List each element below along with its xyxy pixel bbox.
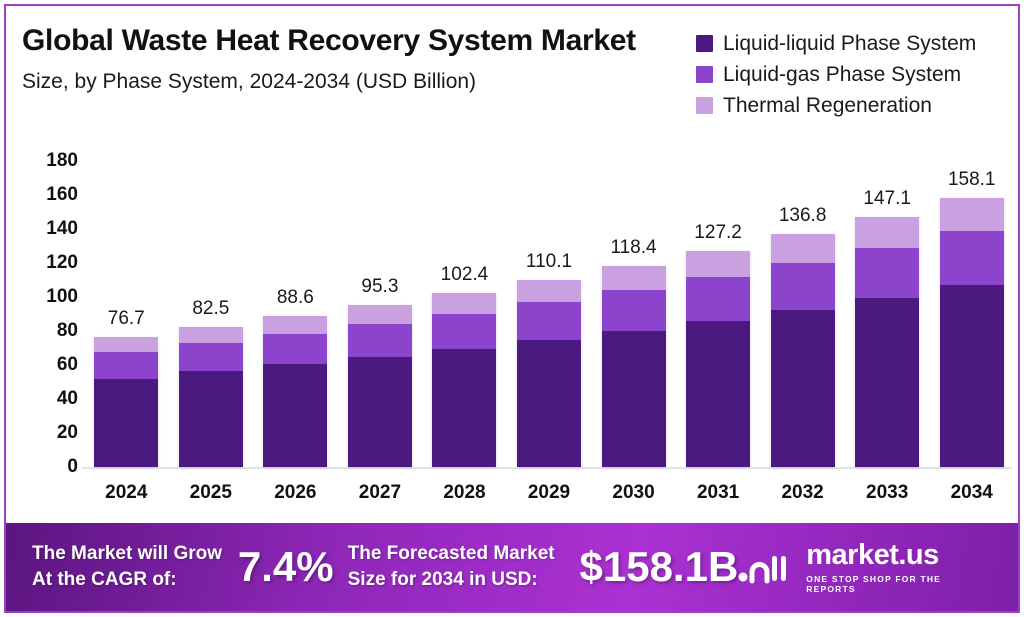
legend-item[interactable]: Thermal Regeneration	[696, 90, 976, 121]
y-axis: 020406080100120140160180	[6, 126, 78, 466]
x-axis-tick-label: 2024	[94, 482, 158, 504]
x-axis-tick-label: 2033	[855, 482, 919, 504]
y-axis-tick-label: 60	[6, 354, 78, 376]
x-axis-tick-label: 2030	[602, 482, 666, 504]
bar-group[interactable]: 158.1	[940, 198, 1004, 467]
bar-group[interactable]: 136.8	[771, 234, 835, 467]
bar-value-label: 82.5	[192, 298, 229, 320]
y-axis-tick-label: 100	[6, 286, 78, 308]
bar-segment[interactable]	[94, 379, 158, 467]
bar-segment[interactable]	[517, 340, 581, 467]
bar-segment[interactable]	[94, 352, 158, 378]
bar-segment[interactable]	[940, 198, 1004, 231]
bar-segment[interactable]	[348, 324, 412, 356]
chart-subtitle: Size, by Phase System, 2024-2034 (USD Bi…	[22, 70, 476, 94]
bar-segment[interactable]	[771, 234, 835, 263]
bar-value-label: 95.3	[361, 276, 398, 298]
x-axis-tick-label: 2025	[179, 482, 243, 504]
bar-segment[interactable]	[686, 277, 750, 320]
bar-group[interactable]: 147.1	[855, 217, 919, 467]
forecast-label: The Forecasted Market Size for 2034 in U…	[348, 541, 574, 592]
x-axis-tick-label: 2029	[517, 482, 581, 504]
bar-segment[interactable]	[940, 231, 1004, 285]
bar-group[interactable]: 127.2	[686, 251, 750, 467]
y-axis-tick-label: 0	[6, 456, 78, 478]
stacked-bar[interactable]: 88.6	[263, 316, 327, 467]
stacked-bar[interactable]: 102.4	[432, 293, 496, 467]
bar-series-container: 76.782.588.695.3102.4110.1118.4127.2136.…	[84, 126, 1014, 467]
bar-segment[interactable]	[686, 251, 750, 278]
bar-group[interactable]: 88.6	[263, 316, 327, 467]
y-axis-tick-label: 80	[6, 320, 78, 342]
stacked-bar[interactable]: 76.7	[94, 337, 158, 467]
page-title: Global Waste Heat Recovery System Market	[22, 24, 636, 58]
bar-group[interactable]: 95.3	[348, 305, 412, 467]
bar-segment[interactable]	[940, 285, 1004, 467]
bar-value-label: 118.4	[610, 237, 656, 259]
bar-value-label: 88.6	[277, 287, 314, 309]
stacked-bar[interactable]: 127.2	[686, 251, 750, 467]
x-axis-tick-label: 2034	[940, 482, 1004, 504]
bar-segment[interactable]	[855, 217, 919, 248]
bar-value-label: 136.8	[779, 205, 827, 227]
bar-segment[interactable]	[263, 316, 327, 334]
bar-group[interactable]: 118.4	[602, 266, 666, 467]
legend-item[interactable]: Liquid-liquid Phase System	[696, 28, 976, 59]
bar-segment[interactable]	[855, 248, 919, 298]
y-axis-tick-label: 180	[6, 150, 78, 172]
bar-segment[interactable]	[686, 321, 750, 467]
bar-segment[interactable]	[179, 371, 243, 467]
bar-segment[interactable]	[517, 280, 581, 302]
legend-swatch-icon	[696, 35, 713, 52]
bar-segment[interactable]	[94, 337, 158, 353]
chart-legend: Liquid-liquid Phase SystemLiquid-gas Pha…	[696, 28, 976, 121]
y-axis-tick-label: 120	[6, 252, 78, 274]
legend-item-label: Liquid-gas Phase System	[723, 63, 961, 87]
stacked-bar[interactable]: 158.1	[940, 198, 1004, 467]
stacked-bar[interactable]: 95.3	[348, 305, 412, 467]
bar-segment[interactable]	[263, 364, 327, 467]
bar-segment[interactable]	[263, 334, 327, 364]
summary-banner: The Market will Grow At the CAGR of: 7.4…	[6, 523, 1018, 611]
chart-card: Global Waste Heat Recovery System Market…	[4, 4, 1020, 613]
signal-wave-icon	[738, 550, 796, 584]
bar-segment[interactable]	[771, 263, 835, 310]
x-axis-tick-label: 2026	[263, 482, 327, 504]
legend-swatch-icon	[696, 97, 713, 114]
bar-segment[interactable]	[348, 357, 412, 467]
y-axis-tick-label: 40	[6, 388, 78, 410]
y-axis-tick-label: 160	[6, 184, 78, 206]
legend-item[interactable]: Liquid-gas Phase System	[696, 59, 976, 90]
bar-segment[interactable]	[179, 327, 243, 343]
bar-segment[interactable]	[602, 290, 666, 330]
bar-group[interactable]: 76.7	[94, 337, 158, 467]
legend-item-label: Thermal Regeneration	[723, 94, 932, 118]
x-axis-tick-label: 2031	[686, 482, 750, 504]
bar-value-label: 127.2	[694, 222, 742, 244]
cagr-label: The Market will Grow At the CAGR of:	[32, 541, 232, 592]
stacked-bar[interactable]: 118.4	[602, 266, 666, 467]
bar-segment[interactable]	[517, 302, 581, 340]
bar-value-label: 76.7	[108, 308, 145, 330]
bar-segment[interactable]	[602, 266, 666, 290]
bar-segment[interactable]	[432, 314, 496, 349]
bar-group[interactable]: 82.5	[179, 327, 243, 467]
bar-segment[interactable]	[179, 343, 243, 371]
chart-header: Global Waste Heat Recovery System Market…	[6, 6, 1018, 126]
bar-segment[interactable]	[771, 310, 835, 467]
bar-segment[interactable]	[348, 305, 412, 324]
x-axis: 2024202520262027202820292030203120322033…	[84, 474, 1014, 514]
x-axis-tick-label: 2028	[432, 482, 496, 504]
x-axis-tick-label: 2027	[348, 482, 412, 504]
stacked-bar[interactable]: 82.5	[179, 327, 243, 467]
x-axis-line	[82, 467, 1012, 469]
chart-plot-area: 020406080100120140160180 76.782.588.695.…	[6, 126, 1018, 516]
x-axis-tick-label: 2032	[771, 482, 835, 504]
stacked-bar[interactable]: 110.1	[517, 280, 581, 467]
bar-segment[interactable]	[855, 298, 919, 467]
bar-value-label: 102.4	[441, 264, 489, 286]
bar-value-label: 147.1	[863, 188, 911, 210]
y-axis-tick-label: 20	[6, 422, 78, 444]
bar-segment[interactable]	[432, 293, 496, 314]
y-axis-tick-label: 140	[6, 218, 78, 240]
bar-value-label: 110.1	[526, 251, 572, 273]
cagr-value: 7.4%	[238, 543, 334, 591]
logo-text: market.us ONE STOP SHOP FOR THE REPORTS	[806, 541, 994, 594]
bar-group[interactable]: 102.4	[432, 293, 496, 467]
legend-item-label: Liquid-liquid Phase System	[723, 32, 976, 56]
legend-swatch-icon	[696, 66, 713, 83]
bar-segment[interactable]	[432, 349, 496, 467]
logo-name: market.us	[806, 541, 994, 570]
logo-tagline: ONE STOP SHOP FOR THE REPORTS	[806, 574, 994, 594]
bar-group[interactable]: 110.1	[517, 280, 581, 467]
bar-value-label: 158.1	[948, 169, 996, 191]
brand-logo[interactable]: market.us ONE STOP SHOP FOR THE REPORTS	[738, 541, 994, 594]
forecast-value: $158.1B	[580, 543, 739, 591]
stacked-bar[interactable]: 136.8	[771, 234, 835, 467]
stacked-bar[interactable]: 147.1	[855, 217, 919, 467]
bar-segment[interactable]	[602, 331, 666, 467]
